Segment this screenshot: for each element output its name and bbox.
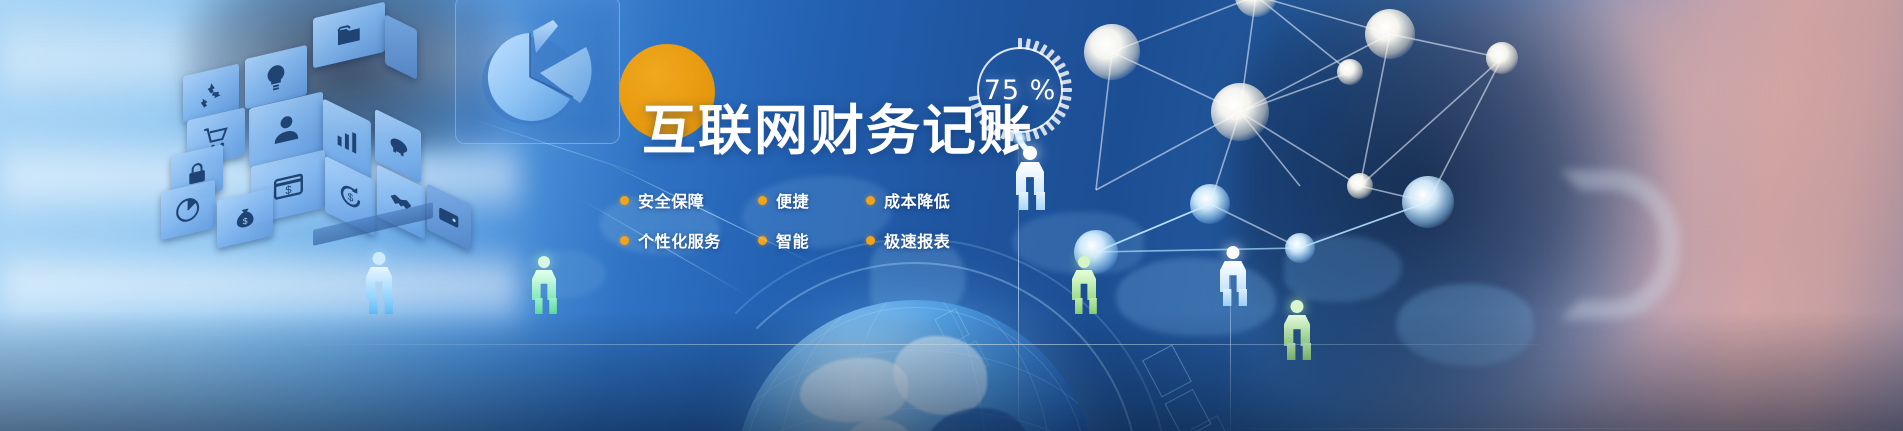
person-head bbox=[1023, 146, 1037, 160]
network-node bbox=[1347, 173, 1373, 199]
feature-item-security[interactable]: 安全保障 bbox=[620, 182, 758, 218]
feature-item-intelligent[interactable]: 智能 bbox=[758, 222, 866, 258]
feature-label: 安全保障 bbox=[638, 188, 704, 212]
pie-chart-icon bbox=[474, 7, 602, 133]
bullet-dot-icon bbox=[866, 236, 875, 245]
person-head bbox=[1227, 246, 1240, 259]
network-graph-icon bbox=[1060, 0, 1600, 290]
marketing-banner: $ $ $ bbox=[0, 0, 1903, 431]
person-body bbox=[1072, 270, 1096, 300]
bullet-dot-icon bbox=[758, 196, 767, 205]
feature-label: 极速报表 bbox=[884, 228, 950, 252]
pie-chart-icon bbox=[161, 180, 215, 240]
svg-text:$: $ bbox=[347, 190, 353, 204]
network-node bbox=[1211, 83, 1269, 141]
gauge-spark-icon bbox=[1012, 130, 1028, 146]
person-silhouette-icon bbox=[362, 252, 396, 314]
person-body bbox=[1220, 261, 1246, 292]
person-head bbox=[538, 256, 550, 268]
icon-cube: $ $ $ bbox=[165, 8, 475, 233]
network-node bbox=[1486, 42, 1518, 74]
person-head bbox=[1078, 256, 1090, 268]
person-body bbox=[532, 270, 556, 300]
feature-label: 成本降低 bbox=[884, 188, 950, 212]
person-body bbox=[1016, 162, 1044, 195]
person-silhouette-icon bbox=[1068, 256, 1100, 314]
network-node bbox=[1190, 184, 1230, 224]
bullet-dot-icon bbox=[866, 196, 875, 205]
person-head bbox=[373, 252, 386, 265]
svg-text:$: $ bbox=[243, 216, 248, 227]
feature-item-cost-reduction[interactable]: 成本降低 bbox=[866, 182, 950, 218]
cube-face bbox=[385, 14, 417, 80]
person-silhouette-icon bbox=[1012, 146, 1048, 210]
feature-item-fast-reports[interactable]: 极速报表 bbox=[866, 222, 950, 258]
progress-ring-icon: 75 % bbox=[968, 38, 1072, 142]
network-node bbox=[1337, 59, 1363, 85]
gauge-value: 75 % bbox=[968, 38, 1072, 142]
person-body bbox=[366, 267, 392, 299]
network-node bbox=[1285, 233, 1315, 263]
feature-item-convenient[interactable]: 便捷 bbox=[758, 182, 866, 218]
bullet-dot-icon bbox=[620, 236, 629, 245]
network-node bbox=[1084, 24, 1140, 80]
feature-label: 便捷 bbox=[776, 188, 809, 212]
folder-icon bbox=[313, 2, 385, 69]
bottom-vignette bbox=[0, 311, 1903, 431]
network-node bbox=[1365, 9, 1415, 59]
person-silhouette-icon bbox=[1216, 246, 1250, 306]
person-silhouette-icon bbox=[528, 256, 560, 314]
network-node bbox=[1402, 176, 1454, 228]
bullet-dot-icon bbox=[620, 196, 629, 205]
svg-text:$: $ bbox=[285, 184, 292, 197]
